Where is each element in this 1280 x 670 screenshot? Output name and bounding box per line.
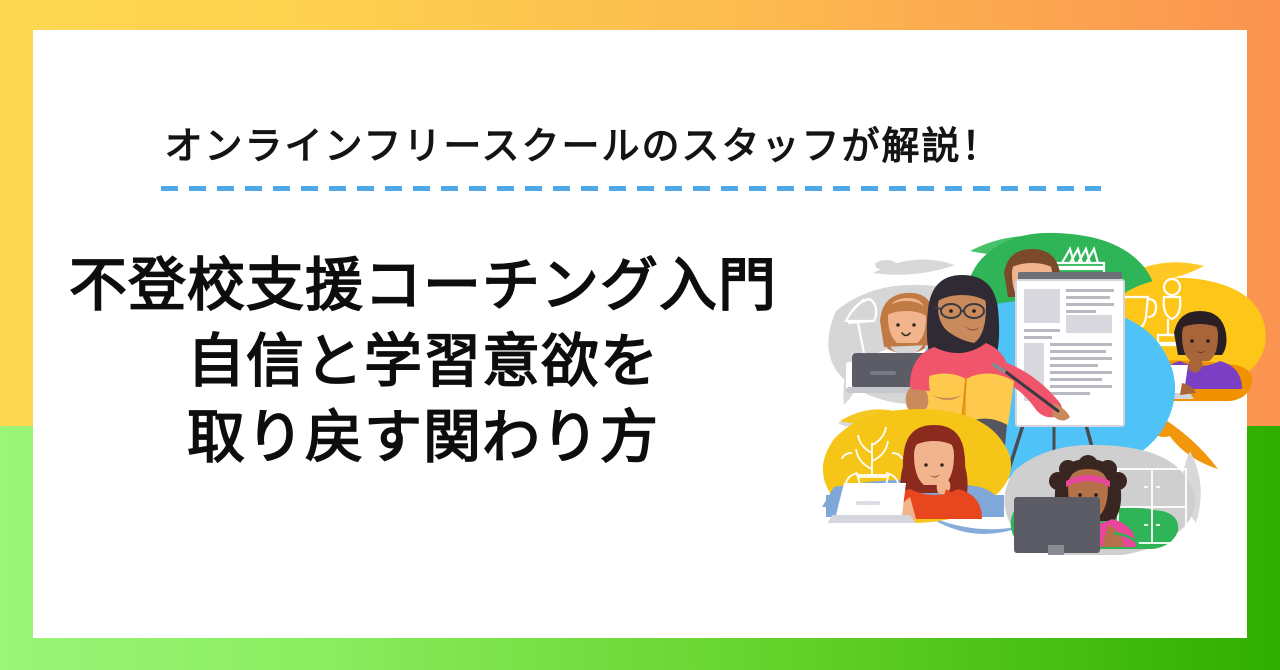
online-learning-illustration <box>818 225 1268 555</box>
blob-bottom-center-group <box>1004 445 1195 555</box>
blob-bottom-left-group <box>822 409 1011 523</box>
kicker-text: オンラインフリースクールのスタッフが解説！ <box>33 115 1133 170</box>
dashed-divider <box>161 186 1101 191</box>
title-line-2: 自信と学習意欲を <box>33 324 813 400</box>
white-content-card: オンラインフリースクールのスタッフが解説！ 不登校支援コーチング入門 自信と学習… <box>33 30 1247 638</box>
page-title: 不登校支援コーチング入門 自信と学習意欲を 取り戻す関わり方 <box>33 248 813 476</box>
title-line-1: 不登校支援コーチング入門 <box>33 248 813 324</box>
title-line-3: 取り戻す関わり方 <box>33 400 813 476</box>
poster-canvas: オンラインフリースクールのスタッフが解説！ 不登校支援コーチング入門 自信と学習… <box>0 0 1280 670</box>
